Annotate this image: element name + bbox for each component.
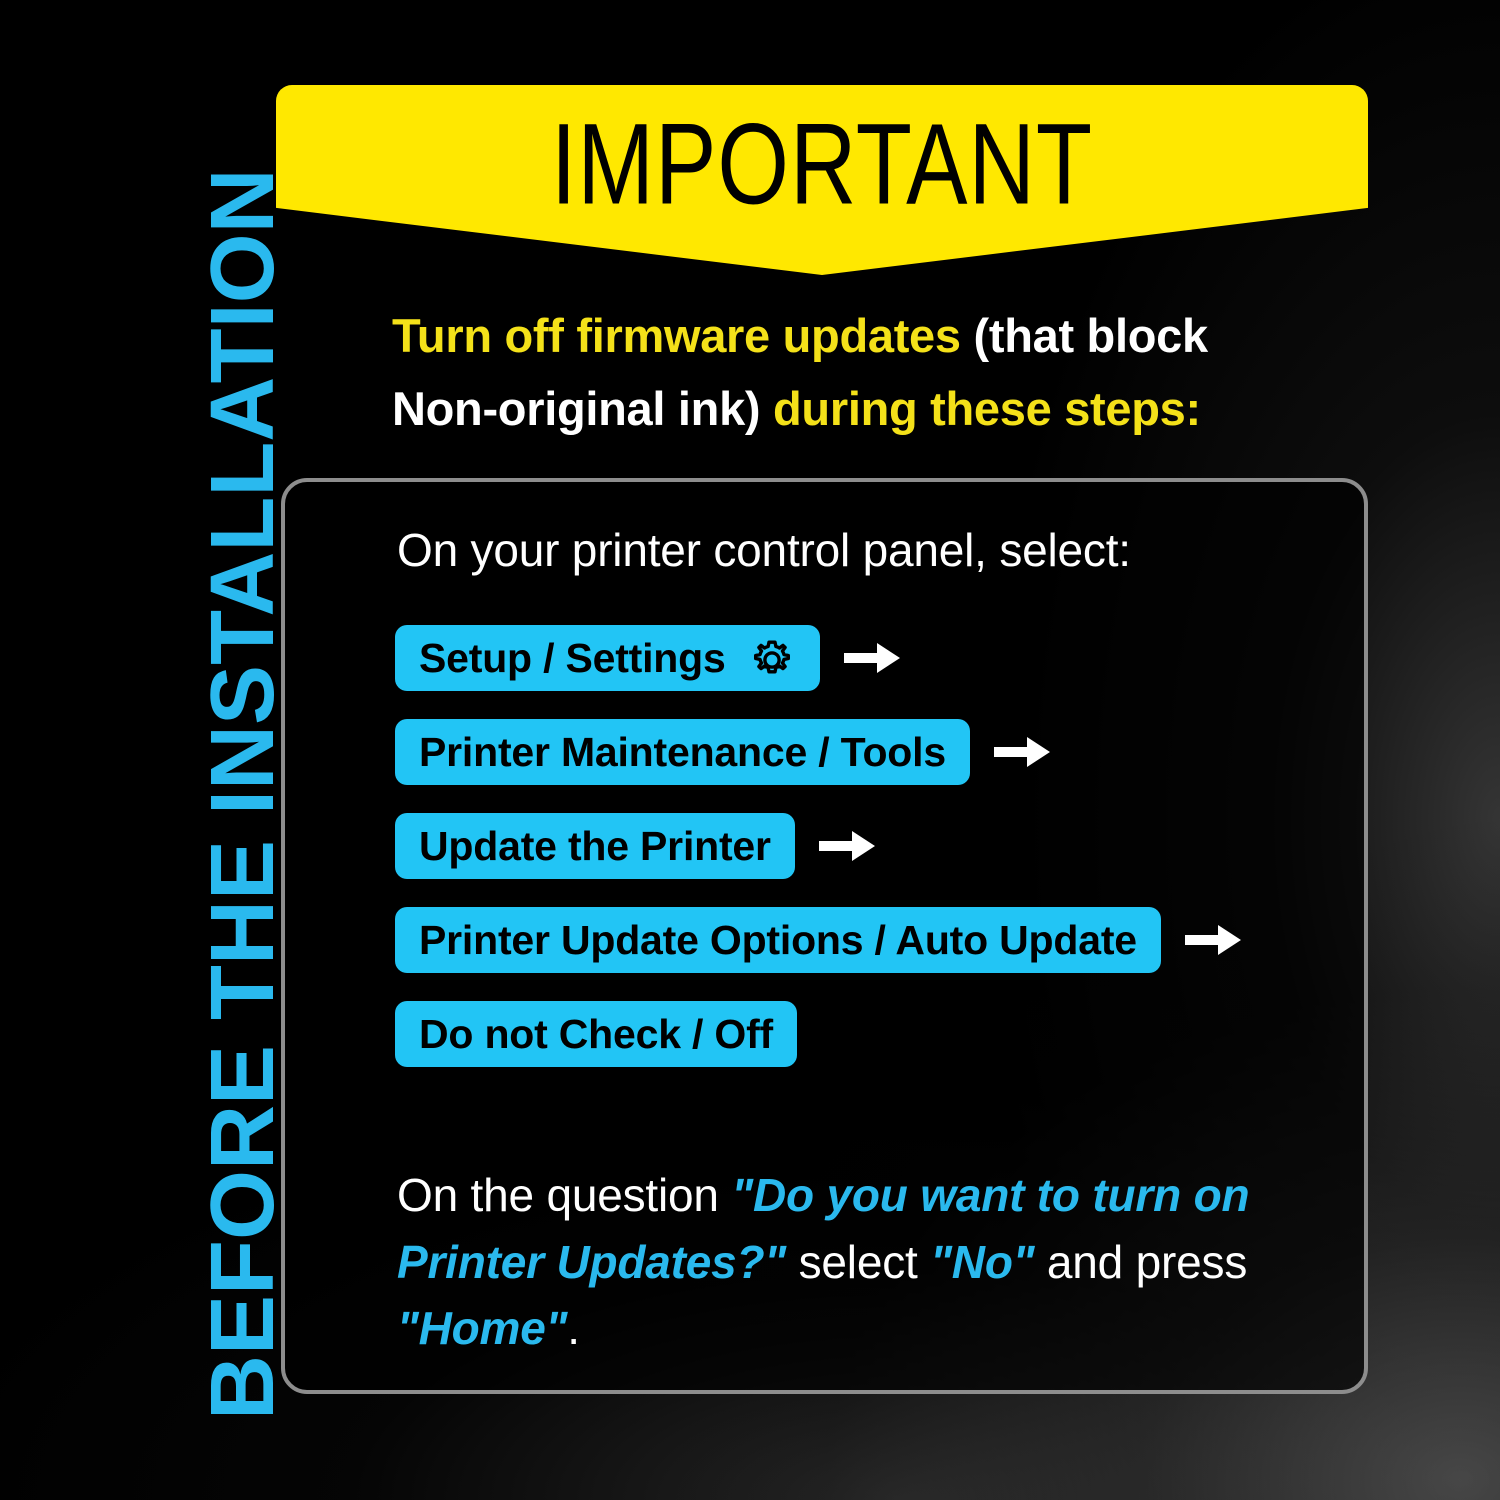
instruction-card: On your printer control panel, select: S… (281, 478, 1368, 1394)
step-chip-setup-settings[interactable]: Setup / Settings (395, 625, 820, 691)
side-title-container: BEFORE THE INSTALLATION (0, 0, 250, 1500)
side-title-text: BEFORE THE INSTALLATION (198, 168, 288, 1420)
closing-quote-home: "Home" (397, 1302, 567, 1354)
arrow-right-icon (817, 826, 879, 866)
closing-seg-1: On the question (397, 1169, 731, 1221)
steps-list: Setup / Settings (395, 622, 1325, 1092)
step-chip-do-not-check-off[interactable]: Do not Check / Off (395, 1001, 797, 1067)
step-label: Printer Maintenance / Tools (419, 732, 946, 773)
closing-quote-no: "No" (930, 1236, 1034, 1288)
step-row: Printer Update Options / Auto Update (395, 904, 1325, 976)
important-title: IMPORTANT (551, 107, 1093, 222)
gear-icon (748, 634, 796, 682)
closing-seg-7: . (567, 1302, 580, 1354)
headline-segment-yellow-1: Turn off firmware updates (392, 309, 974, 362)
closing-paragraph: On the question "Do you want to turn on … (397, 1162, 1297, 1362)
arrow-right-icon (842, 638, 904, 678)
step-chip-printer-maintenance-tools[interactable]: Printer Maintenance / Tools (395, 719, 970, 785)
step-row: Update the Printer (395, 810, 1325, 882)
step-label: Printer Update Options / Auto Update (419, 920, 1137, 961)
headline: Turn off firmware updates (that block No… (392, 300, 1232, 446)
arrow-right-icon (1183, 920, 1245, 960)
card-intro-text: On your printer control panel, select: (397, 527, 1131, 573)
important-banner-inner: IMPORTANT (276, 85, 1368, 275)
step-chip-update-the-printer[interactable]: Update the Printer (395, 813, 795, 879)
step-label: Update the Printer (419, 826, 771, 867)
important-banner: IMPORTANT (276, 85, 1368, 275)
arrow-right-icon (992, 732, 1054, 772)
closing-seg-5: and press (1034, 1236, 1247, 1288)
step-label: Do not Check / Off (419, 1014, 773, 1055)
poster-root: BEFORE THE INSTALLATION IMPORTANT Turn o… (0, 0, 1500, 1500)
headline-segment-yellow-2: during these steps: (760, 382, 1201, 435)
step-label: Setup / Settings (419, 638, 726, 679)
step-chip-printer-update-options-auto-update[interactable]: Printer Update Options / Auto Update (395, 907, 1161, 973)
step-row: Do not Check / Off (395, 998, 1325, 1070)
closing-seg-3: select (786, 1236, 930, 1288)
step-row: Setup / Settings (395, 622, 1325, 694)
step-row: Printer Maintenance / Tools (395, 716, 1325, 788)
